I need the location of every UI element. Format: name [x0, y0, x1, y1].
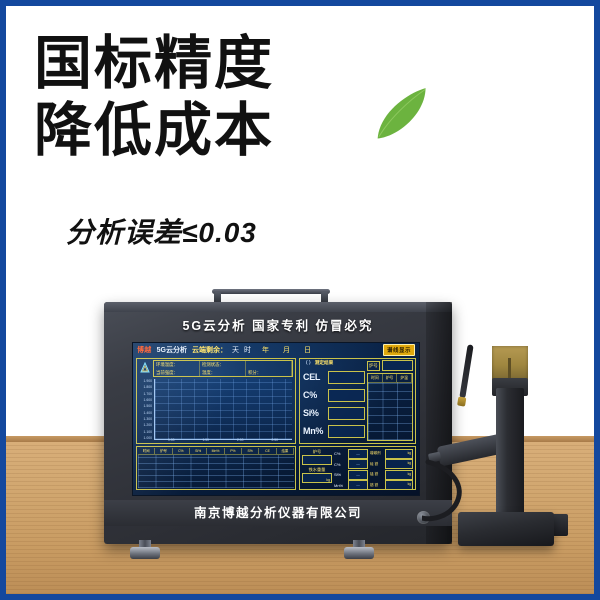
- col-header: Si%: [190, 448, 207, 455]
- device-case: 5G云分析 国家专利 仿冒必究 博越 5G云分析 云端剩余： 天 时 年 月 日…: [104, 302, 452, 544]
- calc-row: C% — 增碳剂 kg: [334, 449, 413, 458]
- result-row: C%: [303, 386, 365, 404]
- history-table-inner: 时间 炉号 C% Si% Mn% P% S% CE 结果: [138, 448, 294, 488]
- amount-unit: kg: [408, 472, 411, 476]
- screen-topbar: 博越 5G云分析 云端剩余： 天 时 年 月 日 谱线显示: [133, 343, 419, 357]
- y-tick: 1.600: [138, 398, 153, 402]
- col-header: CE: [259, 448, 276, 455]
- y-tick: 1.400: [138, 411, 153, 415]
- calc-element: Si%: [334, 472, 346, 477]
- result-name: CEL: [303, 372, 325, 382]
- stand-base: [458, 512, 554, 546]
- amount-unit: kg: [408, 451, 411, 455]
- result-row: Mn%: [303, 422, 365, 440]
- furnace-input[interactable]: [382, 360, 413, 371]
- col-header: C%: [173, 448, 190, 455]
- calc-element: Mn%: [334, 483, 346, 488]
- y-tick: 1.700: [138, 392, 153, 396]
- additive-amount[interactable]: kg: [385, 449, 413, 459]
- screen-brand: 博越: [137, 345, 152, 355]
- furnace-history-table[interactable]: 时间 炉号 炉温: [367, 373, 413, 441]
- calc-row: Si% — 锰 铁 kg: [334, 470, 413, 479]
- calc-row: C% — 硅 铁 kg: [334, 460, 413, 469]
- device-foot: [130, 540, 160, 560]
- additive-label: 铬 铁: [370, 483, 383, 488]
- calc-element: C%: [334, 451, 346, 456]
- col-header: 炉号: [383, 374, 398, 383]
- furnace-row: 炉号: [367, 360, 413, 371]
- x-tick: 2.00: [237, 438, 244, 444]
- y-tick: 1.900: [138, 379, 153, 383]
- bezel-title: 5G云分析 国家专利 仿冒必究: [104, 315, 452, 337]
- y-tick: 1.200: [138, 423, 153, 427]
- header-blank: [246, 361, 292, 369]
- calc-element: C%: [334, 462, 346, 467]
- furnace-id-field: 炉号: [367, 360, 413, 371]
- poster-canvas: 国标精度 降低成本 分析误差≤0.03 5G云分析 国家专利 仿冒必究 博越 5…: [0, 0, 600, 600]
- detect-status-label: 检测状态：: [200, 361, 246, 369]
- y-tick: 1.500: [138, 404, 153, 408]
- result-row: CEL: [303, 368, 365, 386]
- subheadline: 分析误差≤0.03: [66, 211, 257, 251]
- calc-range-input[interactable]: —: [348, 470, 368, 480]
- results-paren-open: （: [303, 360, 308, 365]
- result-value-box[interactable]: [328, 371, 365, 384]
- additive-label: 增碳剂: [370, 451, 383, 456]
- calc-left-fields: 炉号 铁水重量 kg: [302, 449, 332, 485]
- additive-amount[interactable]: kg: [385, 470, 413, 480]
- history-records-table[interactable]: 时间 炉号 C% Si% Mn% P% S% CE 结果: [136, 446, 296, 490]
- stand-column: [496, 388, 524, 520]
- col-header: S%: [242, 448, 259, 455]
- calc-range-input[interactable]: —: [348, 449, 368, 459]
- result-value-box[interactable]: [328, 407, 365, 420]
- history-table-body: [138, 455, 294, 488]
- calc-range-input[interactable]: —: [348, 459, 368, 469]
- temperature-label: 温度：: [200, 369, 246, 377]
- chart-y-axis: 1.900 1.800 1.700 1.600 1.500 1.400 1.30…: [138, 379, 153, 440]
- calc-range-input[interactable]: —: [348, 480, 368, 490]
- x-tick: 1.00: [168, 438, 175, 444]
- col-header: 时间: [138, 448, 155, 455]
- integral-label: 积分：: [246, 369, 292, 377]
- measurement-results-panel: （ ） 测定结果 CEL C% S: [299, 358, 416, 444]
- results-title-text: 测定结果: [315, 360, 333, 365]
- headline-block: 国标精度 降低成本: [34, 36, 374, 160]
- result-name: Mn%: [303, 426, 325, 436]
- x-tick: 2.50: [271, 438, 278, 444]
- sample-probe-stand: [458, 346, 568, 546]
- chart-status-header: 环境温度： 检测状态： 当前强度： 温度： 积分：: [153, 360, 293, 377]
- env-temp-label: 环境温度：: [154, 361, 200, 369]
- result-name: C%: [303, 390, 325, 400]
- lcd-screen[interactable]: 博越 5G云分析 云端剩余： 天 时 年 月 日 谱线显示: [132, 342, 420, 496]
- col-header: 时间: [368, 374, 383, 383]
- col-header: P%: [225, 448, 242, 455]
- screen-title: 5G云分析: [157, 345, 187, 355]
- additive-calculation-panel: 炉号 铁水重量 kg C% — 增碳剂 kg: [299, 446, 416, 490]
- furnace-history-header: 时间 炉号 炉温: [368, 374, 412, 382]
- weight-unit: kg: [326, 478, 330, 482]
- iron-weight-input[interactable]: kg: [302, 473, 332, 483]
- additive-amount[interactable]: kg: [385, 459, 413, 469]
- y-tick: 1.300: [138, 417, 153, 421]
- cloud-hours-unit: 时: [244, 345, 251, 355]
- col-header: 结果: [277, 448, 294, 455]
- calc-furnace-input[interactable]: [302, 455, 332, 465]
- device-foot: [344, 540, 374, 560]
- col-header: 炉温: [397, 374, 412, 383]
- furnace-history-body: [368, 382, 412, 440]
- result-row: Si%: [303, 404, 365, 422]
- col-header: Mn%: [207, 448, 224, 455]
- y-tick: 1.800: [138, 385, 153, 389]
- cloud-remaining-label: 云端剩余：: [192, 345, 227, 355]
- results-rows: CEL C% Si% Mn%: [303, 368, 365, 440]
- stand-head-slot: [508, 358, 511, 380]
- headline-line-1: 国标精度: [34, 36, 374, 93]
- chart-x-axis: 1.00 1.50 2.00 2.50: [154, 438, 292, 444]
- date-month-label: 月: [283, 345, 293, 355]
- current-intensity-label: 当前强度：: [154, 369, 200, 377]
- result-value-box[interactable]: [328, 425, 365, 438]
- amount-unit: kg: [408, 482, 411, 486]
- additive-label: 锰 铁: [370, 472, 383, 477]
- x-tick: 1.50: [202, 438, 209, 444]
- case-top-edge: [104, 302, 452, 312]
- result-value-box[interactable]: [328, 389, 365, 402]
- furnace-label: 炉号: [367, 361, 380, 371]
- spectrum-chart-panel: 环境温度： 检测状态： 当前强度： 温度： 积分： 1.900 1.800 1.…: [136, 358, 296, 444]
- cloud-days-unit: 天: [232, 345, 239, 355]
- calc-row: Mn% — 铬 铁 kg: [334, 481, 413, 490]
- headline-line-2: 降低成本: [34, 103, 374, 160]
- results-paren-close: ）: [309, 360, 314, 365]
- spectrometer-device: 5G云分析 国家专利 仿冒必究 博越 5G云分析 云端剩余： 天 时 年 月 日…: [104, 302, 452, 544]
- y-tick: 1.000: [138, 436, 153, 440]
- additive-amount[interactable]: kg: [385, 480, 413, 490]
- chart-logo-icon: [139, 361, 151, 373]
- results-title: （ ） 测定结果: [303, 360, 333, 366]
- y-tick: 1.100: [138, 430, 153, 434]
- chart-plot-area: [154, 379, 292, 440]
- carry-handle: [212, 289, 330, 303]
- amount-unit: kg: [408, 461, 411, 465]
- result-name: Si%: [303, 408, 325, 418]
- additive-label: 硅 铁: [370, 462, 383, 467]
- spectrum-display-button[interactable]: 谱线显示: [383, 344, 415, 356]
- date-day-label: 日: [304, 345, 314, 355]
- company-name: 南京博越分析仪器有限公司: [104, 502, 452, 524]
- col-header: 炉号: [155, 448, 172, 455]
- calc-rows: C% — 增碳剂 kg C% — 硅 铁 kg Si%: [334, 449, 413, 491]
- date-year-label: 年: [262, 345, 272, 355]
- history-table-header: 时间 炉号 C% Si% Mn% P% S% CE 结果: [138, 448, 294, 455]
